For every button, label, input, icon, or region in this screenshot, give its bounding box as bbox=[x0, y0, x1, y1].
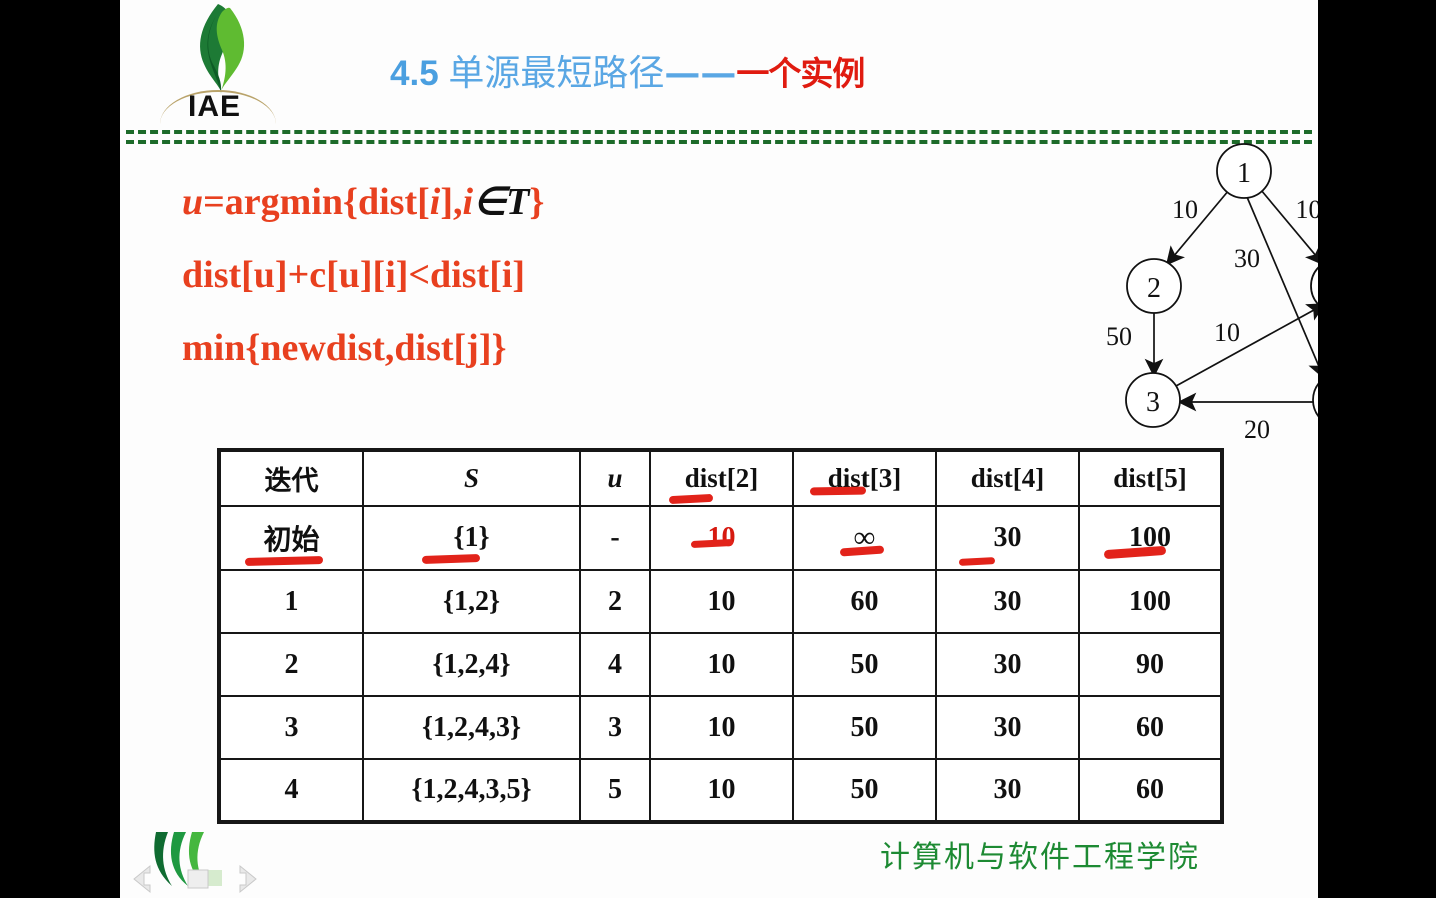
marker-underline-dist2-header bbox=[669, 494, 713, 504]
table-row: 4 {1,2,4,3,5} 5 10 50 30 60 bbox=[219, 759, 1222, 822]
cell-dist5-text: 100 bbox=[1129, 522, 1171, 553]
edge-weight-2-3: 50 bbox=[1106, 322, 1132, 351]
col-header-dist4: dist[4] bbox=[936, 450, 1079, 506]
table-row: 1 {1,2} 2 10 60 30 100 bbox=[219, 570, 1222, 633]
cell-iteration: 3 bbox=[219, 696, 363, 759]
cell-s: {1} bbox=[363, 506, 580, 570]
cell-iteration: 初始 bbox=[219, 506, 363, 570]
screen: IAE 4.5 单源最短路径——一个实例 u=argmin{dist[i],i∈… bbox=[0, 0, 1436, 898]
previous-arrow-icon bbox=[134, 866, 150, 892]
cell-u: - bbox=[580, 506, 650, 570]
cell-s-text: {1} bbox=[453, 522, 489, 553]
page-title: 4.5 单源最短路径——一个实例 bbox=[390, 44, 864, 96]
cell-s: {1,2,4,3} bbox=[363, 696, 580, 759]
nav-icons[interactable] bbox=[128, 862, 278, 896]
cell-dist2: 10 bbox=[650, 506, 793, 570]
graph-node-5 bbox=[1311, 259, 1318, 313]
cell-s: {1,2,4,3,5} bbox=[363, 759, 580, 822]
cell-u: 5 bbox=[580, 759, 650, 822]
cell-dist4: 30 bbox=[936, 759, 1079, 822]
stop-square-icon bbox=[188, 870, 208, 888]
cell-iteration: 4 bbox=[219, 759, 363, 822]
cell-dist4: 30 bbox=[936, 633, 1079, 696]
title-highlight: 一个实例 bbox=[736, 54, 864, 93]
cell-dist3: 50 bbox=[793, 759, 936, 822]
formula-relax: dist[u]+c[u][i]<dist[i] bbox=[182, 239, 742, 312]
divider-dashed-top bbox=[126, 130, 1312, 134]
iae-wordmark: IAE bbox=[188, 90, 241, 124]
col-header-dist3-label: dist[3] bbox=[828, 463, 902, 493]
col-header-iteration: 迭代 bbox=[219, 450, 363, 506]
graph-svg: 1 2 5 3 4 10 100 30 50 10 60 20 bbox=[1075, 140, 1318, 445]
cell-dist5: 60 bbox=[1079, 696, 1222, 759]
col-header-dist2-label: dist[2] bbox=[685, 463, 759, 493]
slideshow-nav[interactable] bbox=[128, 862, 278, 896]
marker-underline-initial bbox=[245, 556, 323, 566]
col-header-dist3: dist[3] bbox=[793, 450, 936, 506]
edge-weight-1-5: 100 bbox=[1296, 195, 1319, 224]
col-header-s: S bbox=[363, 450, 580, 506]
edge-weight-4-3: 20 bbox=[1244, 415, 1270, 444]
cell-u: 2 bbox=[580, 570, 650, 633]
col-header-dist2: dist[2] bbox=[650, 450, 793, 506]
dijkstra-iteration-table: 迭代 S u dist[2] dist[3] dist[4] dist[5] bbox=[217, 448, 1224, 824]
cell-dist2-text: 10 bbox=[708, 522, 736, 553]
cell-dist5: 100 bbox=[1079, 506, 1222, 570]
cell-dist3: 50 bbox=[793, 696, 936, 759]
department-name: 计算机与软件工程学院 bbox=[880, 832, 1200, 876]
graph-node-4 bbox=[1313, 373, 1318, 427]
col-header-dist5: dist[5] bbox=[1079, 450, 1222, 506]
cell-dist2: 10 bbox=[650, 570, 793, 633]
cell-dist5: 100 bbox=[1079, 570, 1222, 633]
title-dash: —— bbox=[664, 52, 736, 94]
cell-dist3-text: ∞ bbox=[854, 521, 875, 554]
graph-node-label-3: 3 bbox=[1146, 387, 1160, 418]
cell-iteration: 2 bbox=[219, 633, 363, 696]
formula-minupdate: min{newdist,dist[j]} bbox=[182, 312, 742, 385]
cell-u: 4 bbox=[580, 633, 650, 696]
cell-s: {1,2} bbox=[363, 570, 580, 633]
cell-s: {1,2,4} bbox=[363, 633, 580, 696]
marker-underline-dist4-v0 bbox=[959, 557, 995, 566]
table-row: 2 {1,2,4} 4 10 50 30 90 bbox=[219, 633, 1222, 696]
cell-u: 3 bbox=[580, 696, 650, 759]
table-row: 3 {1,2,4,3} 3 10 50 30 60 bbox=[219, 696, 1222, 759]
edge-weight-1-4: 30 bbox=[1234, 244, 1260, 273]
marker-underline-s0 bbox=[422, 554, 480, 564]
cell-iteration: 1 bbox=[219, 570, 363, 633]
next-arrow-icon bbox=[240, 866, 256, 892]
cell-dist5: 60 bbox=[1079, 759, 1222, 822]
graph-node-label-1: 1 bbox=[1237, 158, 1251, 189]
cell-dist4: 30 bbox=[936, 696, 1079, 759]
cell-dist3: 60 bbox=[793, 570, 936, 633]
iae-flame-icon bbox=[160, 2, 276, 98]
formula-argmin: u=argmin{dist[i],i∈T} bbox=[182, 166, 742, 239]
formula-list: u=argmin{dist[i],i∈T} dist[u]+c[u][i]<di… bbox=[182, 166, 742, 385]
cell-dist4: 30 bbox=[936, 570, 1079, 633]
table-header-row: 迭代 S u dist[2] dist[3] dist[4] dist[5] bbox=[219, 450, 1222, 506]
table-row: 初始 {1} - 10 ∞ bbox=[219, 506, 1222, 570]
edge-3-5 bbox=[1176, 305, 1318, 386]
edge-weight-1-2: 10 bbox=[1172, 195, 1198, 224]
title-chinese: 单源最短路径 bbox=[448, 53, 664, 94]
cell-dist3: 50 bbox=[793, 633, 936, 696]
col-header-u: u bbox=[580, 450, 650, 506]
title-section-number: 4.5 bbox=[390, 54, 439, 93]
cell-dist4-text: 30 bbox=[994, 522, 1022, 553]
cell-dist2: 10 bbox=[650, 696, 793, 759]
cell-dist5: 90 bbox=[1079, 633, 1222, 696]
cell-dist3: ∞ bbox=[793, 506, 936, 570]
cell-dist4: 30 bbox=[936, 506, 1079, 570]
slide-canvas: IAE 4.5 单源最短路径——一个实例 u=argmin{dist[i],i∈… bbox=[120, 0, 1318, 898]
iae-logo: IAE bbox=[160, 2, 276, 128]
cell-dist2: 10 bbox=[650, 759, 793, 822]
cell-dist2: 10 bbox=[650, 633, 793, 696]
weighted-digraph: 1 2 5 3 4 10 100 30 50 10 60 20 bbox=[1075, 140, 1318, 445]
graph-node-label-2: 2 bbox=[1147, 273, 1161, 304]
edge-weight-3-5: 10 bbox=[1214, 318, 1240, 347]
cell-iteration-text: 初始 bbox=[263, 525, 319, 556]
